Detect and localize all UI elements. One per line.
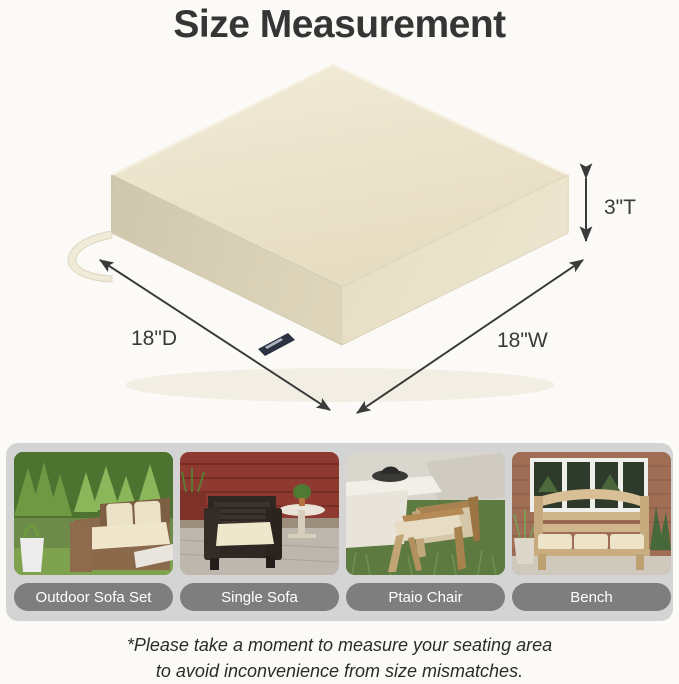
depth-label: 18"D — [131, 327, 177, 351]
footer-line-1: *Please take a moment to measure your se… — [0, 632, 679, 658]
thickness-label: 3"T — [604, 196, 636, 220]
caption-row: Outdoor Sofa Set Single Sofa Ptaio Chair… — [14, 583, 665, 611]
footer-note: *Please take a moment to measure your se… — [0, 632, 679, 684]
caption-bench[interactable]: Bench — [512, 583, 671, 611]
product-shadow — [125, 368, 555, 402]
width-label: 18"W — [497, 329, 548, 353]
thumbnail-patio-chair[interactable] — [346, 452, 505, 575]
caption-patio-chair[interactable]: Ptaio Chair — [346, 583, 505, 611]
thumbnail-single-sofa[interactable] — [180, 452, 339, 575]
fabric-carry-loop-icon — [66, 231, 114, 283]
caption-single-sofa[interactable]: Single Sofa — [180, 583, 339, 611]
thumbnail-outdoor-sofa-set[interactable] — [14, 452, 173, 575]
thumbnail-row — [14, 452, 665, 575]
brand-tag-icon — [258, 333, 295, 356]
page-title: Size Measurement — [0, 2, 679, 48]
footer-line-2: to avoid inconvenience from size mismatc… — [0, 658, 679, 684]
product-measurement-illustration — [0, 55, 679, 435]
caption-outdoor-sofa-set[interactable]: Outdoor Sofa Set — [14, 583, 173, 611]
thumbnail-bench[interactable] — [512, 452, 671, 575]
usage-gallery-panel: Outdoor Sofa Set Single Sofa Ptaio Chair… — [6, 443, 673, 621]
